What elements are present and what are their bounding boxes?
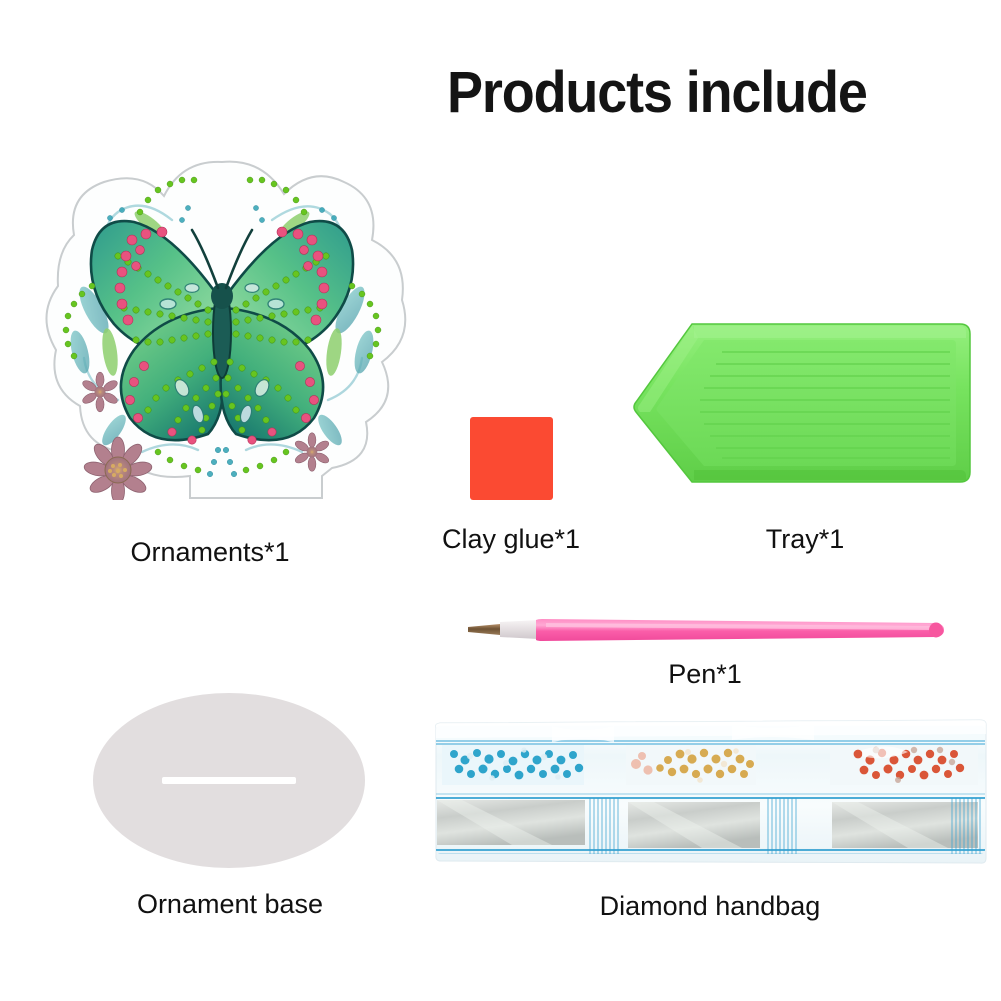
- tray-caption: Tray*1: [670, 523, 940, 555]
- clay-glue-icon: [470, 417, 553, 500]
- butterfly-ornament-icon: [22, 100, 422, 500]
- drill-pen-icon: [466, 612, 946, 648]
- diamond-handbag-caption: Diamond handbag: [440, 890, 980, 922]
- diamond-handbag-icon: [432, 712, 989, 872]
- product-contents-infographic: Products include: [0, 0, 1001, 1001]
- ornament-base-icon: [93, 693, 365, 868]
- ornament-base-caption: Ornament base: [65, 888, 395, 920]
- clay-glue-caption: Clay glue*1: [371, 523, 651, 555]
- diamond-tray-icon: [630, 312, 975, 517]
- ornaments-caption: Ornaments*1: [0, 536, 420, 568]
- page-title: Products include: [447, 62, 954, 124]
- pen-caption: Pen*1: [580, 658, 830, 690]
- base-slot: [162, 777, 295, 784]
